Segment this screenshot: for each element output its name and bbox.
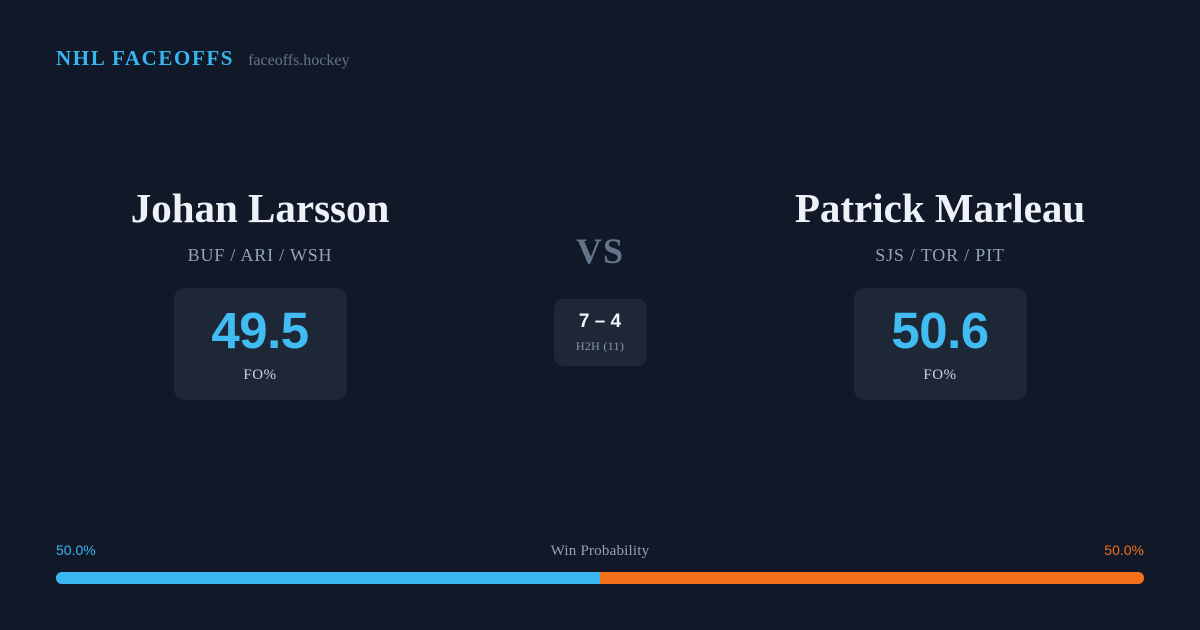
win-probability-title: Win Probability	[551, 543, 650, 560]
head-to-head-card: 7 – 4 H2H (11)	[554, 299, 647, 366]
head-to-head-label: H2H (11)	[576, 339, 624, 354]
player-teams-right: SJS / TOR / PIT	[875, 245, 1004, 266]
faceoff-percent-value-right: 50.6	[891, 305, 988, 356]
player-teams-left: BUF / ARI / WSH	[188, 245, 333, 266]
win-probability-right-percent: 50.0%	[1104, 542, 1144, 558]
stat-card-left: 49.5 FO%	[174, 288, 347, 400]
player-card-left: Johan Larsson BUF / ARI / WSH 49.5 FO%	[20, 185, 500, 400]
player-name-left: Johan Larsson	[131, 185, 390, 232]
faceoff-percent-label-right: FO%	[923, 367, 956, 384]
matchup-section: Johan Larsson BUF / ARI / WSH 49.5 FO% V…	[0, 185, 1200, 400]
versus-label: VS	[576, 233, 624, 269]
brand-title[interactable]: NHL FACEOFFS	[56, 46, 234, 71]
win-probability-fill-left	[56, 572, 600, 584]
win-probability-section: 50.0% Win Probability 50.0%	[56, 542, 1144, 584]
win-probability-labels: 50.0% Win Probability 50.0%	[56, 542, 1144, 562]
faceoff-percent-label-left: FO%	[243, 367, 276, 384]
win-probability-fill-right	[600, 572, 1144, 584]
win-probability-left-percent: 50.0%	[56, 542, 96, 558]
head-to-head-score: 7 – 4	[579, 312, 621, 331]
faceoff-percent-value-left: 49.5	[211, 305, 308, 356]
brand-domain-label: faceoffs.hockey	[248, 52, 349, 70]
player-card-right: Patrick Marleau SJS / TOR / PIT 50.6 FO%	[700, 185, 1180, 400]
win-probability-bar	[56, 572, 1144, 584]
player-name-right: Patrick Marleau	[795, 185, 1085, 232]
brand-header: NHL FACEOFFS faceoffs.hockey	[56, 46, 350, 71]
versus-column: VS 7 – 4 H2H (11)	[500, 185, 700, 366]
stat-card-right: 50.6 FO%	[854, 288, 1027, 400]
